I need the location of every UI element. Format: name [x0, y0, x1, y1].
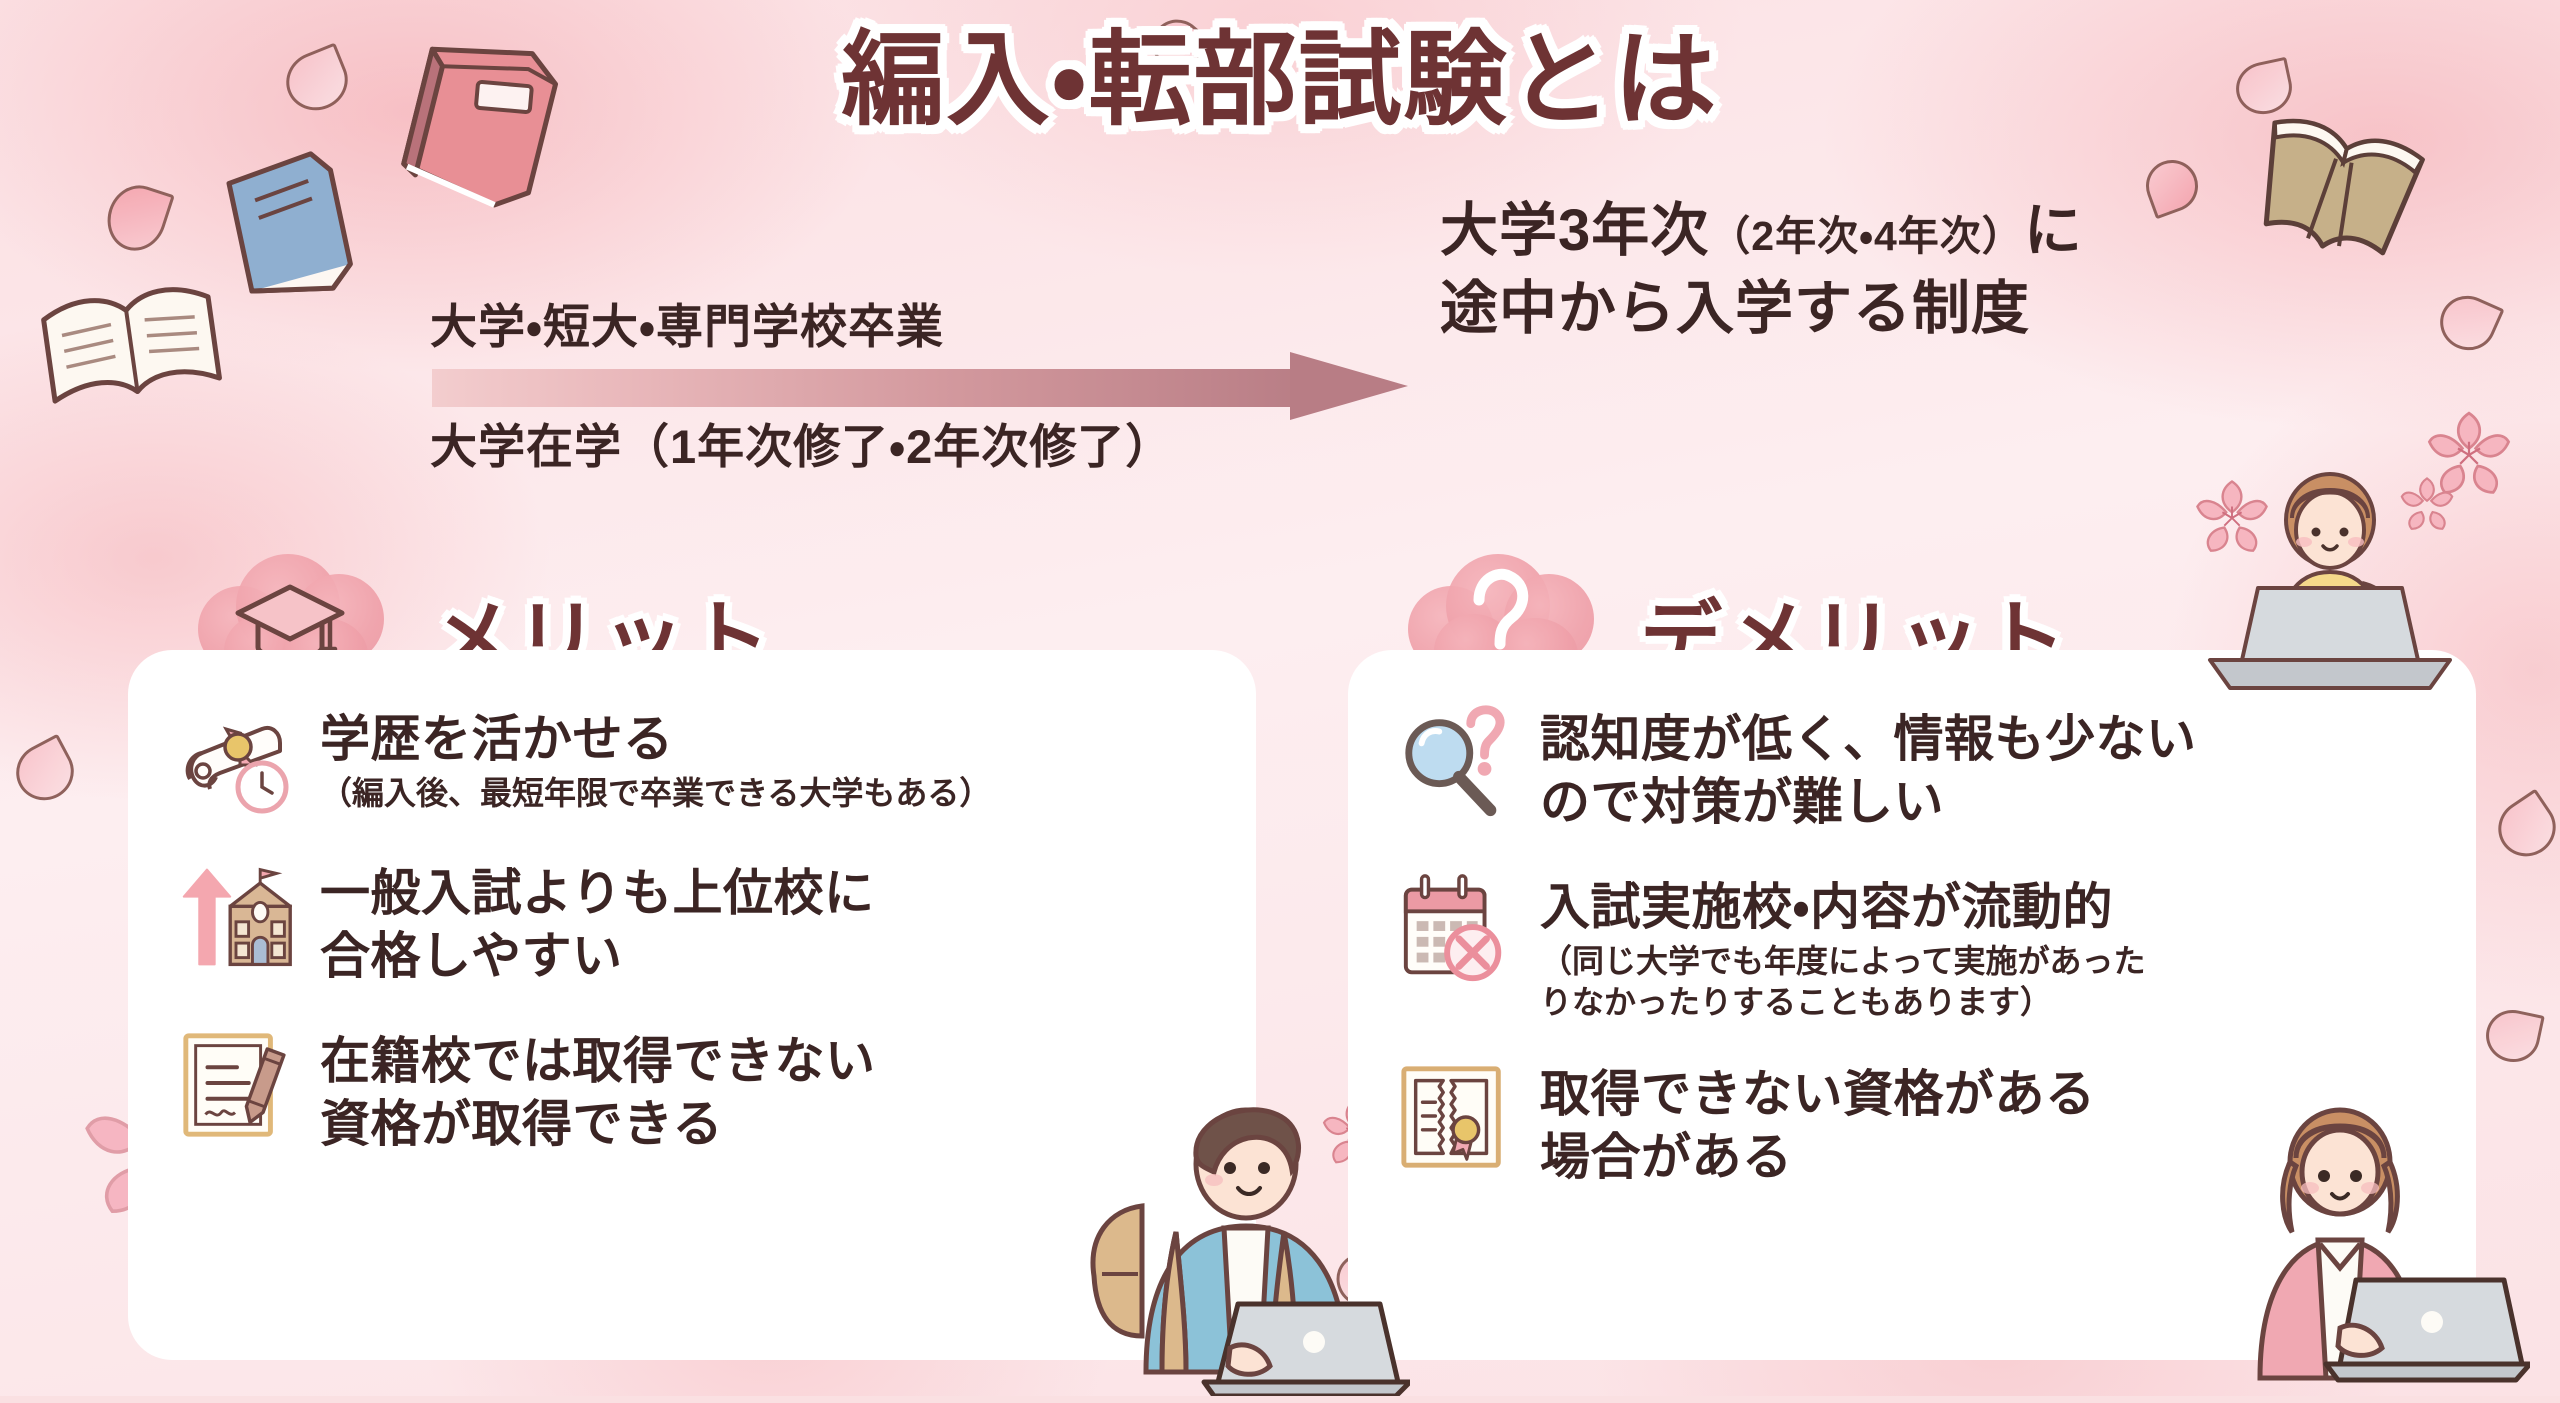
list-item: 学歴を活かせる （編入後、最短年限で卒業できる大学もある）: [176, 702, 1226, 822]
list-item: 入試実施校・内容が流動的 （同じ大学でも年度によって実施があった りなかったりす…: [1396, 870, 2446, 1023]
arrow-up-school-icon: [176, 856, 296, 976]
magnifier-question-icon: [1396, 702, 1516, 822]
list-item-text: 在籍校では取得できない 資格が取得できる: [320, 1024, 876, 1158]
document-pen-icon: [176, 1024, 296, 1144]
flow-target-line-2: 途中から入学する制度: [1440, 270, 2500, 348]
list-item-title: 学歴を活かせる: [320, 708, 991, 771]
merit-item-list: 学歴を活かせる （編入後、最短年限で卒業できる大学もある）: [176, 702, 1226, 1192]
arrow-head: [1290, 352, 1408, 420]
list-item-title: 取得できない資格がある 場合がある: [1540, 1063, 2096, 1189]
arrow-shaft: [432, 369, 1312, 407]
female-student-laptop-top-icon: [2180, 460, 2470, 705]
flow-target-labels: 大学3年次（2年次・4年次）に 途中から入学する制度: [1440, 192, 2500, 349]
certificate-ribbon-icon: [1396, 1057, 1516, 1177]
flow-target-paren: （2年次・4年次）: [1709, 213, 2024, 259]
list-item: 認知度が低く、情報も少ない ので対策が難しい: [1396, 702, 2446, 836]
list-item-text: 入試実施校・内容が流動的 （同じ大学でも年度によって実施があった りなかったりす…: [1540, 870, 2145, 1023]
list-item-text: 一般入試よりも上位校に 合格しやすい: [320, 856, 875, 990]
list-item-title: 在籍校では取得できない 資格が取得できる: [320, 1030, 876, 1156]
list-item-title: 認知度が低く、情報も少ない ので対策が難しい: [1540, 708, 2197, 834]
list-item-text: 取得できない資格がある 場合がある: [1540, 1057, 2096, 1191]
flow-target-main: 大学3年次: [1440, 198, 1709, 263]
list-item-text: 認知度が低く、情報も少ない ので対策が難しい: [1540, 702, 2197, 836]
list-item: 一般入試よりも上位校に 合格しやすい: [176, 856, 1226, 990]
flow-diagram: 大学・短大・専門学校卒業 大学在学（1年次修了・2年次修了） 大学3年次（2年次…: [0, 180, 2560, 430]
list-item-text: 学歴を活かせる （編入後、最短年限で卒業できる大学もある）: [320, 702, 991, 814]
flow-source-line-1: 大学・短大・専門学校卒業: [430, 288, 1430, 357]
list-item-note: （同じ大学でも年度によって実施があった りなかったりすることもあります）: [1540, 941, 2145, 1023]
list-item: 在籍校では取得できない 資格が取得できる: [176, 1024, 1226, 1158]
list-item-title: 入試実施校・内容が流動的: [1540, 876, 2145, 939]
list-item-note: （編入後、最短年限で卒業できる大学もある）: [320, 773, 991, 814]
flow-target-line-1: 大学3年次（2年次・4年次）に: [1440, 192, 2500, 270]
female-student-laptop-bottom-icon: [2190, 1088, 2530, 1403]
flow-target-tail: に: [2024, 198, 2083, 263]
calendar-cross-icon: [1396, 870, 1516, 990]
list-item-title: 一般入試よりも上位校に 合格しやすい: [320, 862, 875, 988]
right-arrow-icon: [432, 352, 1432, 420]
male-student-laptop-icon: [1080, 1086, 1410, 1401]
diploma-clock-icon: [176, 702, 296, 822]
